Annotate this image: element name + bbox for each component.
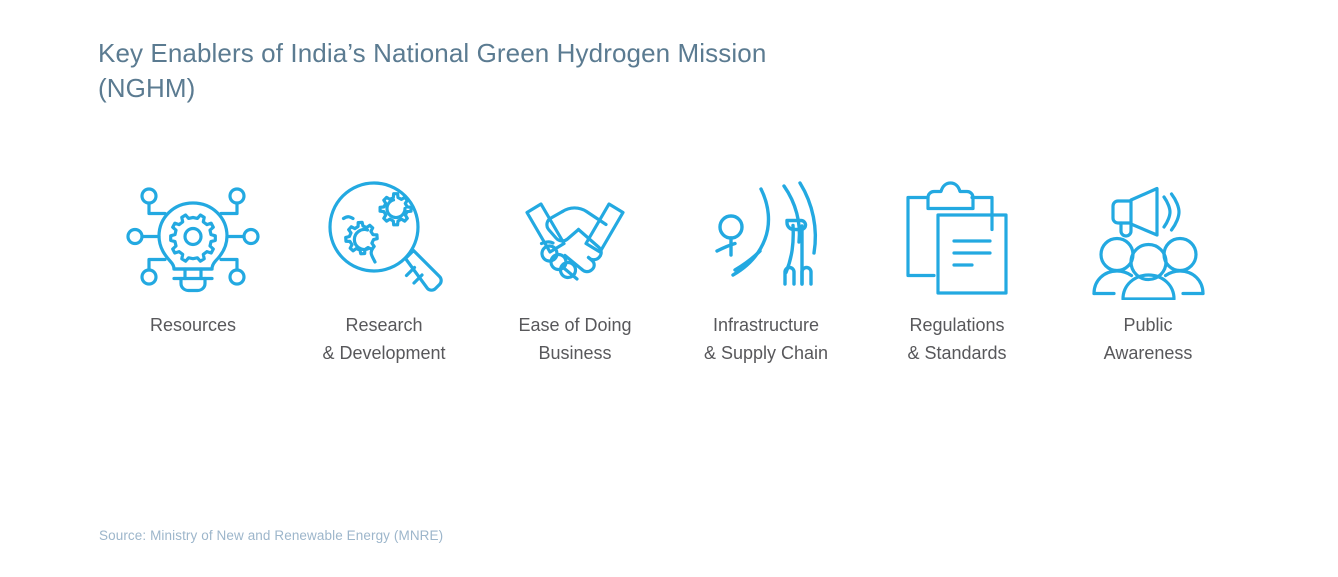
enabler-item-ease-of-doing-business[interactable]: Ease of Doing Business [480,175,670,368]
enabler-item-research-and-development[interactable]: Research & Development [289,175,479,368]
enabler-label: Regulations & Standards [907,312,1006,368]
people-megaphone-icon [1081,175,1216,300]
enabler-label: Resources [150,312,236,340]
enabler-item-public-awareness[interactable]: Public Awareness [1053,175,1243,368]
enabler-item-resources[interactable]: Resources [98,175,288,340]
lightbulb-gear-network-icon [123,175,263,300]
magnifier-globe-gears-icon [319,175,449,300]
road-streetlight-icon [699,175,834,300]
enablers-row: Resources [98,175,1243,368]
enabler-label: Research & Development [322,312,445,368]
enabler-item-infrastructure-and-supply-chain[interactable]: Infrastructure & Supply Chain [671,175,861,368]
enabler-label: Infrastructure & Supply Chain [704,312,828,368]
source-caption: Source: Ministry of New and Renewable En… [99,528,443,543]
handshake-icon [505,175,645,300]
enabler-label: Public Awareness [1104,312,1193,368]
clipboard-document-icon [892,175,1022,300]
enabler-label: Ease of Doing Business [518,312,631,368]
page-title: Key Enablers of India’s National Green H… [98,36,858,105]
infographic-slide: Key Enablers of India’s National Green H… [0,0,1338,577]
enabler-item-regulations-and-standards[interactable]: Regulations & Standards [862,175,1052,368]
